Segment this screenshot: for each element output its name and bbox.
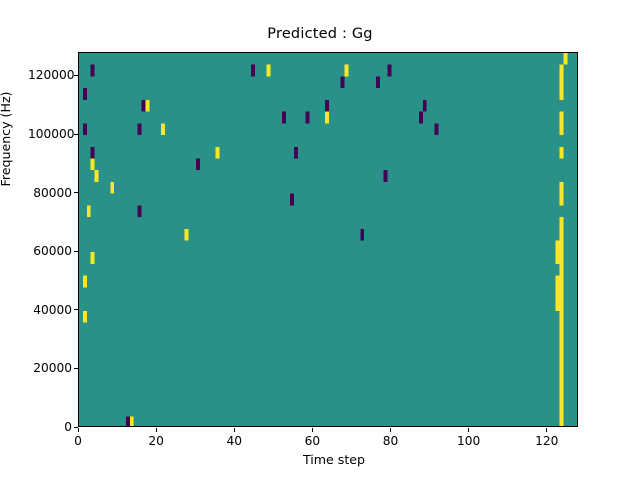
y-tick-mark [74,75,78,76]
y-tick-label: 80000 [28,186,72,200]
y-tick-label: 60000 [28,244,72,258]
x-tick-mark [156,428,157,432]
x-tick-mark [546,428,547,432]
x-tick-mark [390,428,391,432]
x-tick-mark [312,428,313,432]
x-tick-label: 120 [535,434,558,448]
x-tick-label: 0 [74,434,82,448]
x-tick-mark [78,428,79,432]
y-tick-mark [74,309,78,310]
y-axis-label: Frequency (Hz) [0,39,13,239]
y-tick-mark [74,134,78,135]
y-tick-label: 100000 [28,127,72,141]
x-tick-mark [468,428,469,432]
heatmap-axes [78,52,578,427]
x-tick-label: 100 [457,434,480,448]
y-tick-mark [74,192,78,193]
y-tick-label: 0 [28,420,72,434]
x-tick-mark [234,428,235,432]
y-tick-label: 120000 [28,68,72,82]
page-title: Predicted : Gg [0,26,640,42]
y-tick-label: 20000 [28,361,72,375]
x-tick-label: 60 [305,434,321,448]
x-tick-label: 80 [383,434,399,448]
x-axis-label: Time step [0,452,640,467]
y-tick-label: 40000 [28,303,72,317]
matplotlib-figure: Predicted : Gg 0200004000060000800001000… [0,0,640,480]
y-tick-mark [74,368,78,369]
spectrogram-heatmap [79,53,578,427]
x-tick-label: 40 [226,434,242,448]
x-tick-label: 20 [148,434,164,448]
y-tick-mark [74,251,78,252]
